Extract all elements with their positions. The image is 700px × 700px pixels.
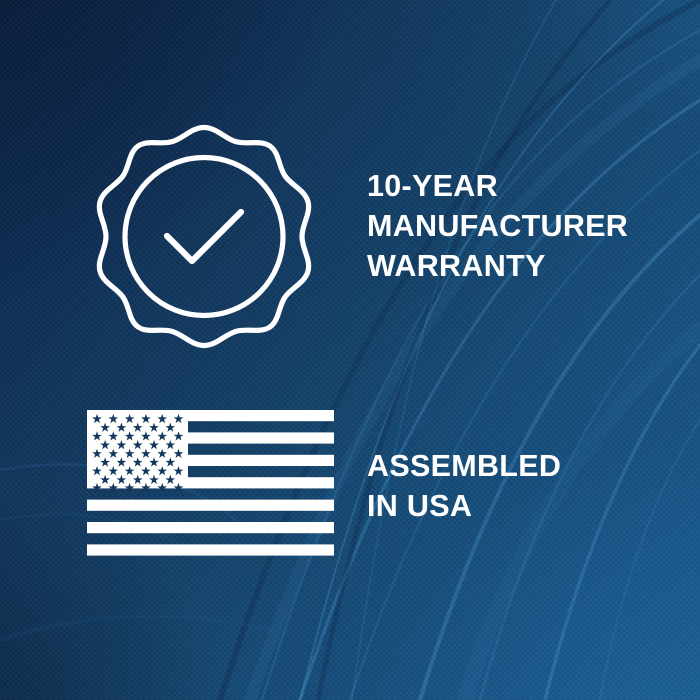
graphic-content: 10-YEAR MANUFACTURER WARRANTY: [0, 0, 700, 700]
assembly-headline: ASSEMBLED IN USA: [367, 446, 667, 526]
seal-inner-circle: [125, 158, 283, 316]
assembly-text-block: ASSEMBLED IN USA: [367, 446, 667, 526]
promotional-feature-graphic: 10-YEAR MANUFACTURER WARRANTY: [0, 0, 700, 700]
seal-checkmark: [167, 212, 241, 261]
warranty-text-block: 10-YEAR MANUFACTURER WARRANTY: [367, 166, 667, 286]
seal-scallop-outline: [99, 128, 308, 346]
usa-flag-icon: [87, 410, 334, 563]
warranty-headline: 10-YEAR MANUFACTURER WARRANTY: [367, 166, 667, 286]
certificate-seal-checkmark-icon: [88, 119, 320, 351]
